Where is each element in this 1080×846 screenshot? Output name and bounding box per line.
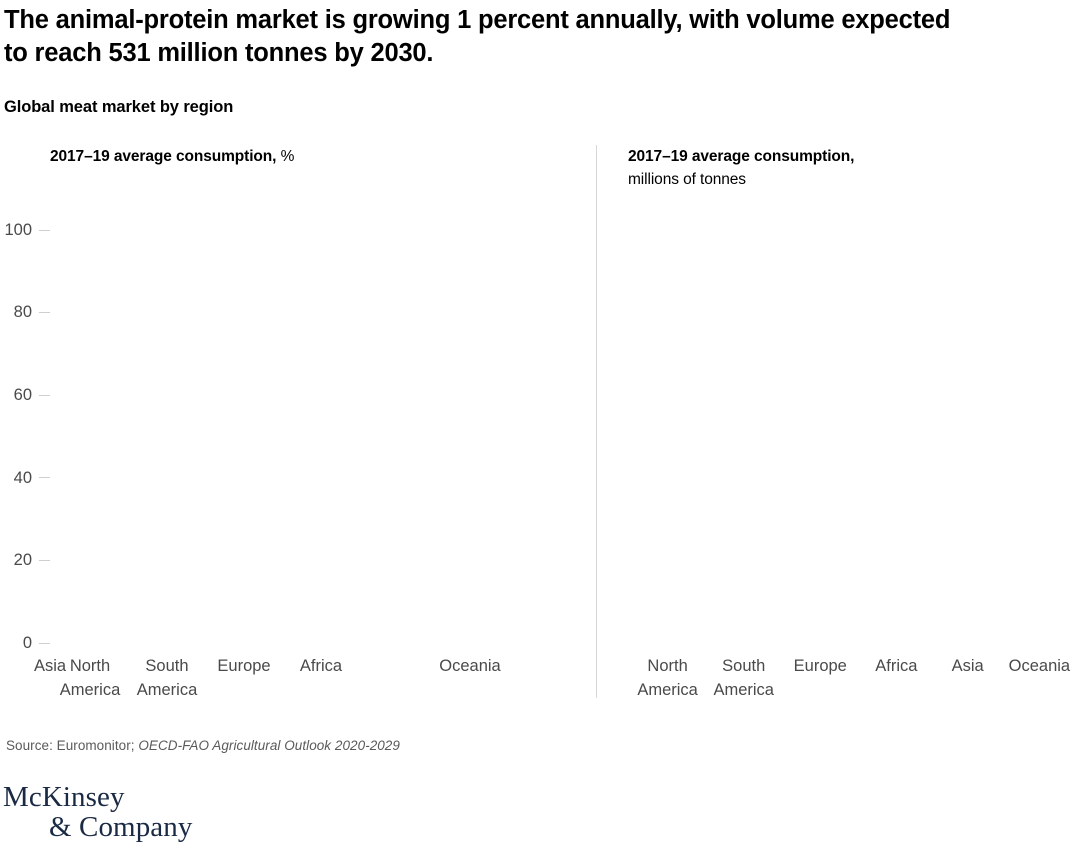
y-axis-tickmark [39, 560, 50, 561]
page-subtitle: Global meat market by region [4, 98, 233, 117]
y-axis-label-40: 40 [14, 470, 32, 487]
chart-panel-tonnes-title: 2017–19 average consumption,millions of … [628, 146, 968, 192]
plot-area-percent: 100 80 60 40 20 0 [50, 230, 550, 643]
chart-panel-percent-title: 2017–19 average consumption, % [50, 146, 294, 169]
charts-container: 2017–19 average consumption, % 100 80 60… [0, 140, 1080, 710]
y-axis-tickmark [39, 312, 50, 313]
x-axis-category-africa: Africa [300, 655, 342, 679]
chart-panel-tonnes-title-bold: 2017–19 average consumption, [628, 148, 854, 165]
x-axis-category-south-america: South America [713, 655, 774, 703]
chart-panel-percent-title-bold: 2017–19 average consumption, [50, 148, 276, 165]
x-axis-percent: North America South America Europe Afric… [50, 655, 550, 711]
plot-area-tonnes [628, 230, 1068, 643]
x-axis-category-oceania: Oceania [439, 655, 500, 679]
logo-line-two: & Company [3, 812, 192, 842]
y-axis-label-0: 0 [23, 635, 32, 652]
chart-panel-tonnes-title-unit: millions of tonnes [628, 171, 746, 188]
y-axis-tickmark [39, 230, 50, 231]
y-axis-label-60: 60 [14, 387, 32, 404]
y-axis-label-100: 100 [4, 222, 32, 239]
chart-panel-percent-title-unit: % [276, 148, 294, 165]
chart-panel-percent: 2017–19 average consumption, % 100 80 60… [0, 140, 596, 710]
x-axis-category-europe: Europe [217, 655, 270, 679]
logo-line-one: McKinsey [3, 782, 192, 812]
x-axis-category-asia: Asia [34, 655, 66, 679]
y-axis-tickmark [39, 643, 50, 644]
x-axis-tonnes: North America South America Europe Afric… [628, 655, 1068, 711]
x-axis-category-asia: Asia [952, 655, 984, 679]
y-axis-label-20: 20 [14, 552, 32, 569]
source-note: Source: Euromonitor; OECD-FAO Agricultur… [6, 738, 400, 753]
x-axis-category-north-america: North America [637, 655, 698, 703]
source-publication: OECD-FAO Agricultural Outlook 2020-2029 [138, 738, 400, 753]
page-title: The animal-protein market is growing 1 p… [4, 4, 964, 70]
x-axis-category-europe: Europe [794, 655, 847, 679]
y-axis-tickmark [39, 395, 50, 396]
mckinsey-logo: McKinsey & Company [3, 782, 192, 842]
x-axis-category-oceania: Oceania [1009, 655, 1070, 679]
x-axis-category-africa: Africa [875, 655, 917, 679]
y-axis-tickmark [39, 477, 50, 478]
x-axis-category-south-america: South America [137, 655, 198, 703]
source-prefix: Source: Euromonitor; [6, 738, 138, 753]
x-axis-category-north-america: North America [60, 655, 121, 703]
chart-panel-tonnes: 2017–19 average consumption,millions of … [597, 140, 1080, 710]
y-axis-label-80: 80 [14, 304, 32, 321]
